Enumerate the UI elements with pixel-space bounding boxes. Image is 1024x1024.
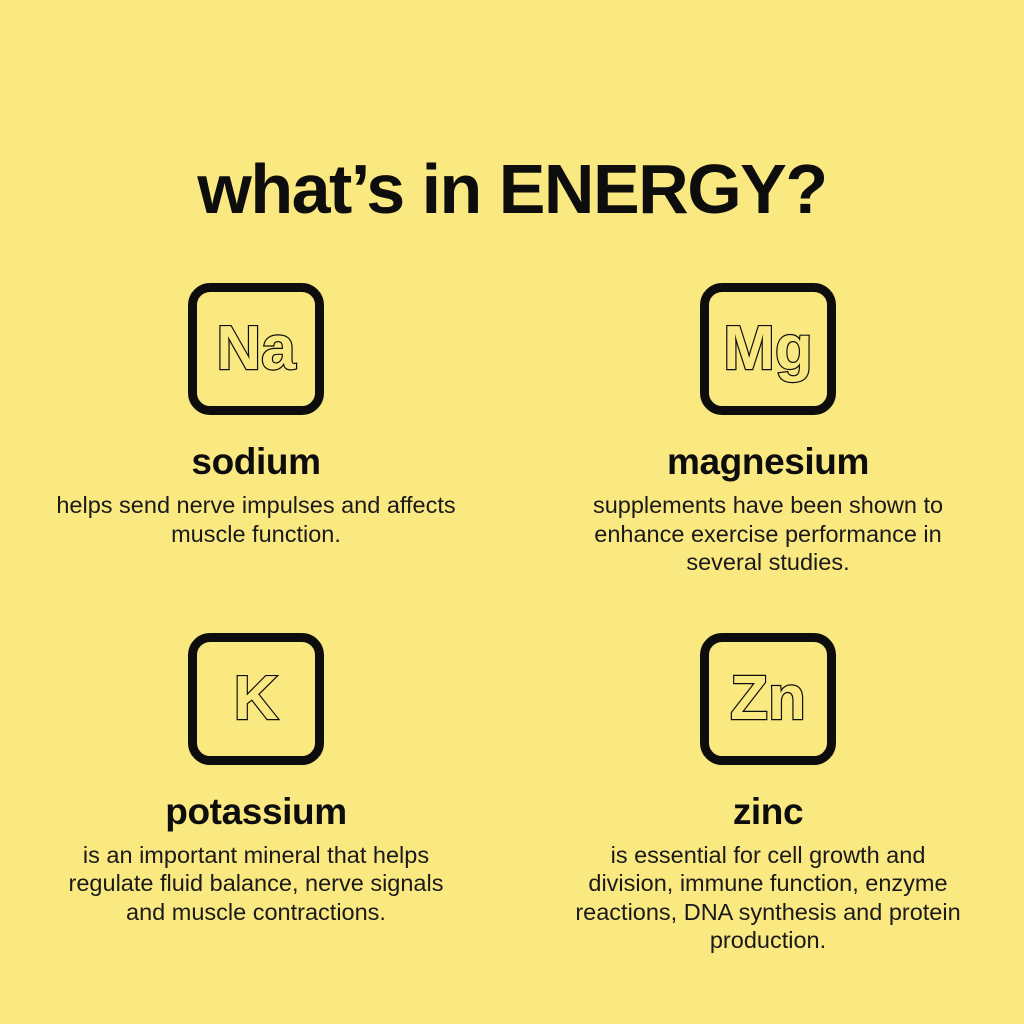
sodium-symbol-tile: Na [188, 283, 324, 415]
mineral-card-sodium: Na sodium helps send nerve impulses and … [0, 283, 512, 577]
mineral-card-grid: Na sodium helps send nerve impulses and … [0, 283, 1024, 955]
potassium-symbol-icon: K [234, 668, 279, 730]
magnesium-symbol-icon: Mg [723, 318, 813, 380]
mineral-card-potassium: K potassium is an important mineral that… [0, 633, 512, 955]
mineral-card-magnesium: Mg magnesium supplements have been shown… [512, 283, 1024, 577]
page-title: what’s in ENERGY? [0, 150, 1024, 228]
energy-ingredients-poster: what’s in ENERGY? Na sodium helps send n… [0, 0, 1024, 1024]
zinc-symbol-icon: Zn [730, 668, 806, 730]
sodium-symbol-icon: Na [216, 318, 295, 380]
mineral-card-zinc: Zn zinc is essential for cell growth and… [512, 633, 1024, 955]
mineral-description-magnesium: supplements have been shown to enhance e… [568, 491, 968, 577]
mineral-description-sodium: helps send nerve impulses and affects mu… [56, 491, 456, 548]
mineral-name-potassium: potassium [165, 792, 346, 832]
mineral-description-zinc: is essential for cell growth and divisio… [568, 841, 968, 955]
potassium-symbol-tile: K [188, 633, 324, 765]
magnesium-symbol-tile: Mg [700, 283, 836, 415]
mineral-name-magnesium: magnesium [667, 442, 869, 482]
mineral-name-zinc: zinc [733, 792, 803, 832]
zinc-symbol-tile: Zn [700, 633, 836, 765]
mineral-description-potassium: is an important mineral that helps regul… [56, 841, 456, 927]
mineral-name-sodium: sodium [191, 442, 320, 482]
